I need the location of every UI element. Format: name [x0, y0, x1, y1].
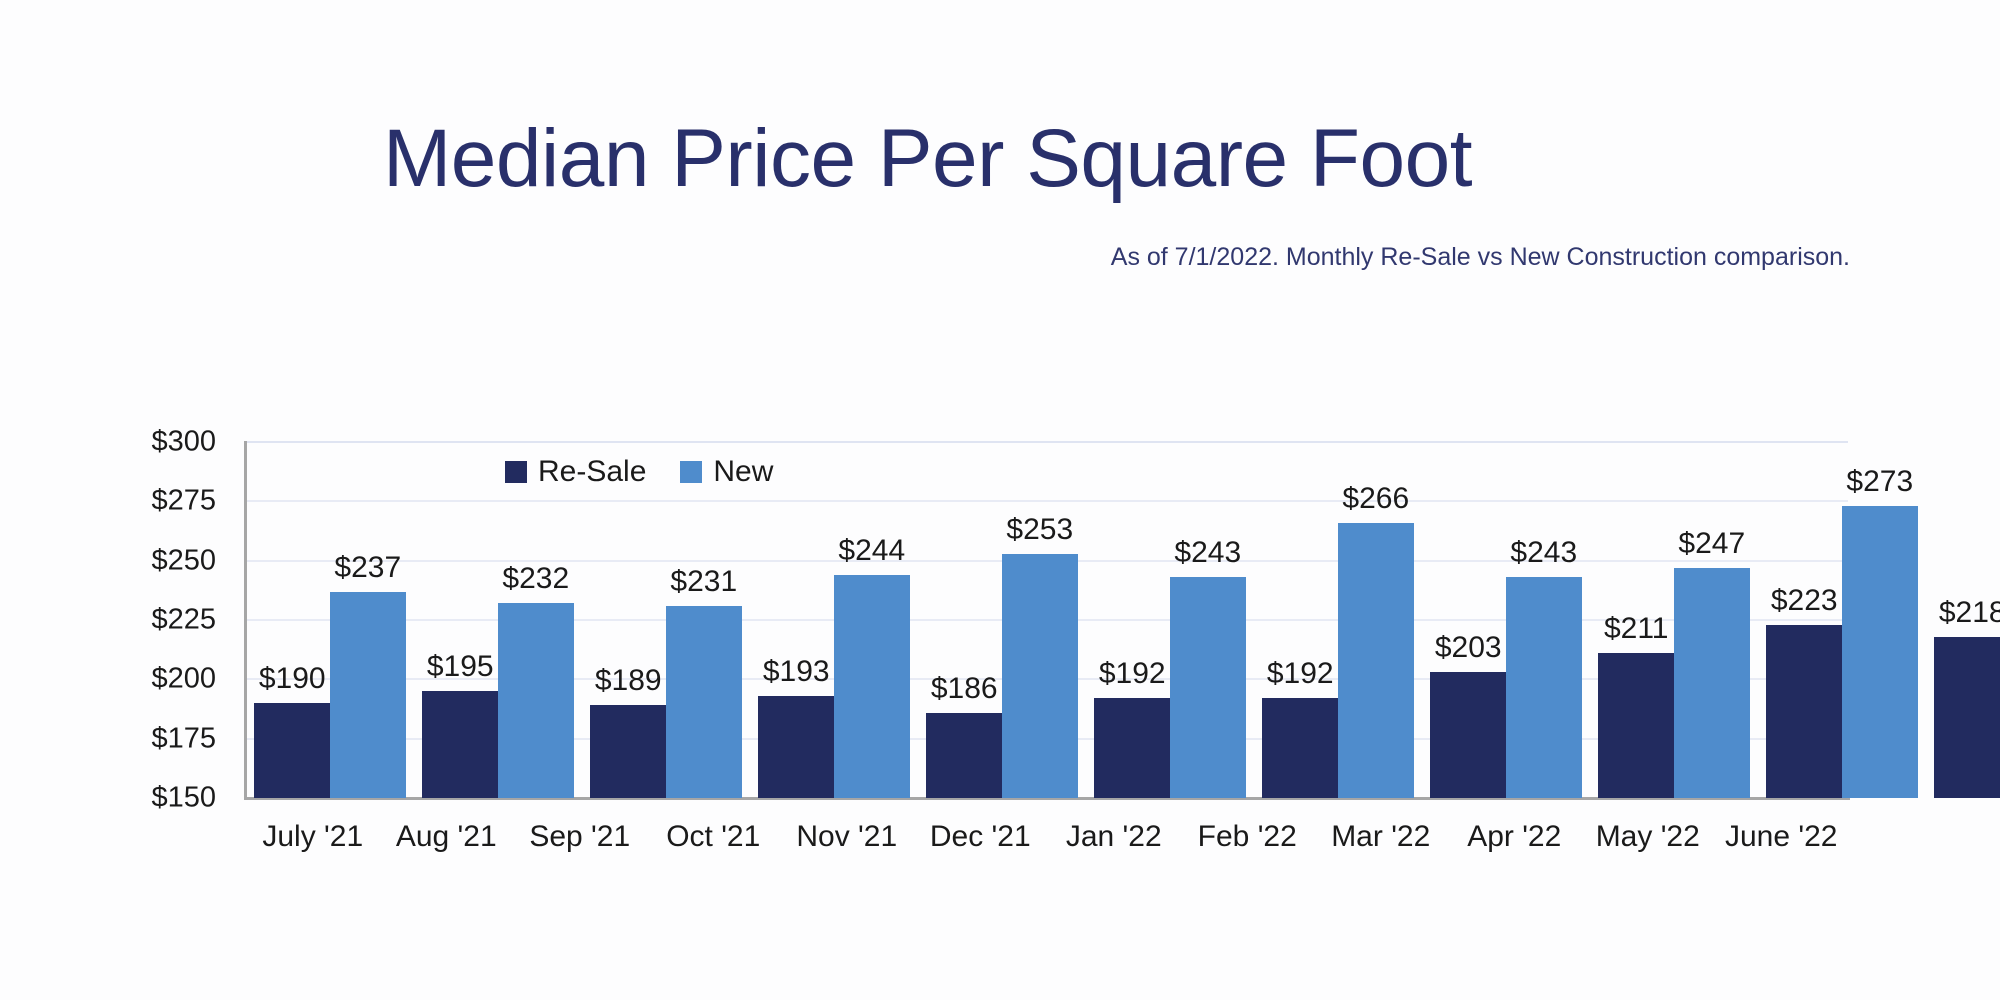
bar-slot: $211: [1598, 442, 1674, 798]
bar-slot: $253: [1002, 442, 1078, 798]
bar-value-label: $203: [1435, 631, 1502, 665]
bar-re-sale[interactable]: $190: [254, 703, 330, 798]
bar-value-label: $244: [838, 534, 905, 568]
y-axis-tick-label: $200: [96, 663, 216, 696]
bar-group: $192$266: [1254, 442, 1422, 798]
bar-re-sale[interactable]: $211: [1598, 653, 1674, 798]
bar-slot: $231: [666, 442, 742, 798]
bar-new[interactable]: $253: [1002, 554, 1078, 799]
x-axis-tick-label: Sep '21: [513, 820, 647, 854]
bar-value-label: $273: [1846, 465, 1913, 499]
bar-slot: $190: [254, 442, 330, 798]
bar-group: $223$273: [1758, 442, 1926, 798]
bar-re-sale[interactable]: $192: [1094, 698, 1170, 798]
bar-group: $192$243: [1086, 442, 1254, 798]
bar-slot: $243: [1506, 442, 1582, 798]
y-axis-tick-label: $150: [96, 782, 216, 815]
legend-item-re-sale[interactable]: Re-Sale: [505, 455, 646, 489]
square-swatch-icon: [680, 461, 702, 483]
bar-value-label: $192: [1099, 657, 1166, 691]
bar-slot: $192: [1262, 442, 1338, 798]
x-axis-tick-label: Dec '21: [914, 820, 1048, 854]
bar-slot: $266: [1338, 442, 1414, 798]
bar-value-label: $190: [259, 662, 326, 696]
bar-new[interactable]: $266: [1338, 523, 1414, 798]
bar-slot: $193: [758, 442, 834, 798]
y-axis-tick-label: $250: [96, 544, 216, 577]
bar-value-label: $186: [931, 672, 998, 706]
bar-value-label: $192: [1267, 657, 1334, 691]
bar-re-sale[interactable]: $186: [926, 713, 1002, 798]
bar-re-sale[interactable]: $203: [1430, 672, 1506, 798]
legend-label: Re-Sale: [538, 455, 646, 489]
x-axis-tick-label: Jan '22: [1047, 820, 1181, 854]
bar-slot: $218: [1934, 442, 2000, 798]
square-swatch-icon: [505, 461, 527, 483]
bar-group: $190$237: [246, 442, 414, 798]
bar-group: $218$265: [1926, 442, 2000, 798]
bar-re-sale[interactable]: $218: [1934, 637, 2000, 798]
y-axis-tick-label: $300: [96, 426, 216, 459]
bar-group: $203$243: [1422, 442, 1590, 798]
bar-value-label: $223: [1771, 584, 1838, 618]
y-axis-tick-label: $225: [96, 604, 216, 637]
x-axis-tick-label: Oct '21: [647, 820, 781, 854]
bar-value-label: $247: [1678, 527, 1745, 561]
bar-value-label: $211: [1604, 612, 1669, 646]
bar-new[interactable]: $237: [330, 592, 406, 799]
bar-value-label: $237: [334, 551, 401, 585]
bar-new[interactable]: $231: [666, 606, 742, 798]
bar-value-label: $189: [595, 664, 662, 698]
y-axis-tick-label: $175: [96, 722, 216, 755]
bar-re-sale[interactable]: $223: [1766, 625, 1842, 798]
x-axis-tick-label: Mar '22: [1314, 820, 1448, 854]
bar-slot: $186: [926, 442, 1002, 798]
bar-value-label: $243: [1510, 536, 1577, 570]
bar-new[interactable]: $232: [498, 603, 574, 798]
bar-slot: $192: [1094, 442, 1170, 798]
legend-item-new[interactable]: New: [680, 455, 773, 489]
bar-new[interactable]: $247: [1674, 568, 1750, 798]
x-axis-tick-label: Feb '22: [1181, 820, 1315, 854]
bar-value-label: $253: [1006, 513, 1073, 547]
bar-group: $189$231: [582, 442, 750, 798]
bar-slot: $273: [1842, 442, 1918, 798]
bar-slot: $244: [834, 442, 910, 798]
bar-value-label: $231: [670, 565, 737, 599]
bar-group: $193$244: [750, 442, 918, 798]
y-axis-tick-label: $275: [96, 485, 216, 518]
bar-group: $211$247: [1590, 442, 1758, 798]
bar-value-label: $218: [1939, 596, 2000, 630]
bar-slot: $237: [330, 442, 406, 798]
x-axis-tick-label: Aug '21: [380, 820, 514, 854]
bar-slot: $243: [1170, 442, 1246, 798]
bar-groups: $190$237$195$232$189$231$193$244$186$253…: [246, 442, 1848, 798]
chart-legend: Re-SaleNew: [505, 455, 773, 489]
bar-re-sale[interactable]: $195: [422, 691, 498, 798]
x-axis-tick-label: Apr '22: [1448, 820, 1582, 854]
bar-group: $195$232: [414, 442, 582, 798]
bar-value-label: $193: [763, 655, 830, 689]
bar-slot: $203: [1430, 442, 1506, 798]
chart-plot-wrapper: $300$275$250$225$200$175$150 Re-SaleNew …: [0, 0, 2000, 1000]
x-axis-tick-labels: July '21Aug '21Sep '21Oct '21Nov '21Dec …: [246, 820, 1848, 854]
x-axis-tick-label: Nov '21: [780, 820, 914, 854]
bar-new[interactable]: $243: [1170, 577, 1246, 798]
bar-slot: $195: [422, 442, 498, 798]
bar-re-sale[interactable]: $192: [1262, 698, 1338, 798]
bar-value-label: $195: [427, 650, 494, 684]
x-axis-tick-label: June '22: [1715, 820, 1849, 854]
bar-slot: $223: [1766, 442, 1842, 798]
bar-new[interactable]: $243: [1506, 577, 1582, 798]
legend-label: New: [713, 455, 773, 489]
bar-re-sale[interactable]: $189: [590, 705, 666, 798]
bar-slot: $232: [498, 442, 574, 798]
bar-re-sale[interactable]: $193: [758, 696, 834, 798]
bar-group: $186$253: [918, 442, 1086, 798]
bar-slot: $189: [590, 442, 666, 798]
bar-slot: $247: [1674, 442, 1750, 798]
bar-value-label: $266: [1342, 482, 1409, 516]
x-axis-tick-label: July '21: [246, 820, 380, 854]
bar-value-label: $243: [1174, 536, 1241, 570]
bar-value-label: $232: [502, 562, 569, 596]
x-axis-tick-label: May '22: [1581, 820, 1715, 854]
bar-new[interactable]: $244: [834, 575, 910, 798]
bar-new[interactable]: $273: [1842, 506, 1918, 798]
